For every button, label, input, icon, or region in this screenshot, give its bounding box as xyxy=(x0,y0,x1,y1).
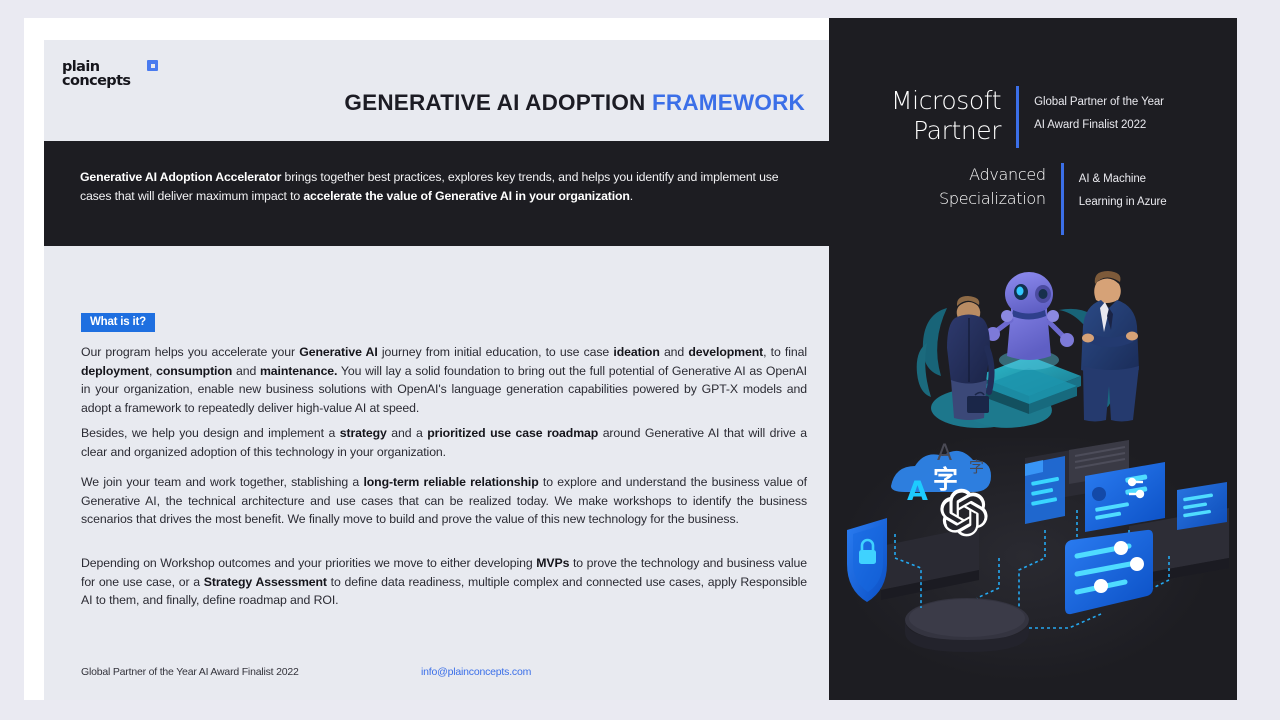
podium-icon xyxy=(905,598,1029,652)
p1-bold-maintenance: maintenance. xyxy=(260,364,337,378)
settings-sliders-icon xyxy=(1065,530,1153,614)
logo-square-icon xyxy=(147,60,158,71)
openai-ecosystem-illustration: A 字 A 字 xyxy=(829,438,1237,700)
footer-email-link[interactable]: info@plainconcepts.com xyxy=(421,666,531,678)
microsoft-partner-detail-line2: AI Award Finalist 2022 xyxy=(1034,114,1164,137)
p1-bold-development: development xyxy=(688,345,763,359)
paragraph-2: Besides, we help you design and implemen… xyxy=(81,424,807,461)
robot-and-businessmen-illustration xyxy=(829,248,1237,438)
svg-text:字: 字 xyxy=(969,458,984,476)
microsoft-partner-badge: Microsoft Partner Global Partner of the … xyxy=(891,86,1164,148)
p1-text-g: and xyxy=(232,364,260,378)
p1-bold-consumption: consumption xyxy=(156,364,232,378)
advanced-specialization-line1: Advanced xyxy=(939,163,1046,187)
advanced-specialization-line2: Specialization xyxy=(939,187,1046,211)
svg-text:字: 字 xyxy=(933,465,958,494)
svg-text:A: A xyxy=(937,441,952,466)
svg-text:A: A xyxy=(907,476,928,507)
microsoft-partner-detail-line1: Global Partner of the Year xyxy=(1034,91,1164,114)
banner-end: . xyxy=(630,189,633,203)
document-card-icon xyxy=(1025,456,1065,524)
microsoft-partner-title: Microsoft Partner xyxy=(891,86,1016,148)
p3-text-a: We join your team and work together, sta… xyxy=(81,475,363,489)
p2-text-c: and a xyxy=(387,426,427,440)
translate-cloud-icon: A 字 A 字 xyxy=(891,441,991,507)
page-title-main: GENERATIVE AI ADOPTION xyxy=(344,90,652,115)
microsoft-partner-detail: Global Partner of the Year AI Award Fina… xyxy=(1019,86,1164,137)
slide-canvas: plain concepts GENERATIVE AI ADOPTION FR… xyxy=(24,18,1237,700)
p1-bold-ideation: ideation xyxy=(613,345,659,359)
advanced-specialization-detail-line1: AI & Machine xyxy=(1079,168,1167,191)
advanced-specialization-badge: Advanced Specialization AI & Machine Lea… xyxy=(939,163,1167,235)
small-screen-icon xyxy=(1177,482,1227,530)
banner-lead: Generative AI Adoption Accelerator xyxy=(80,170,281,184)
p1-text-e: , to final xyxy=(763,345,807,359)
p4-bold-mvps: MVPs xyxy=(536,556,569,570)
paragraph-4: Depending on Workshop outcomes and your … xyxy=(81,554,807,610)
intro-banner: Generative AI Adoption Accelerator bring… xyxy=(44,141,829,246)
p3-bold-relationship: long-term reliable relationship xyxy=(363,475,538,489)
section-badge: What is it? xyxy=(81,313,155,332)
p2-text-a: Besides, we help you design and implemen… xyxy=(81,426,340,440)
intro-banner-text: Generative AI Adoption Accelerator bring… xyxy=(80,168,807,206)
left-content-panel: plain concepts GENERATIVE AI ADOPTION FR… xyxy=(44,40,829,700)
person-left-icon xyxy=(947,296,992,420)
p1-text-d: and xyxy=(660,345,689,359)
openai-logo-icon xyxy=(940,489,987,537)
p1-bold-generative-ai: Generative AI xyxy=(299,345,377,359)
paragraph-3: We join your team and work together, sta… xyxy=(81,473,807,529)
plain-concepts-logo: plain concepts xyxy=(62,60,162,96)
body-area: What is it? Our program helps you accele… xyxy=(44,246,829,700)
robot-icon xyxy=(986,272,1074,370)
microsoft-partner-line1: Microsoft xyxy=(891,86,1001,116)
logo-text-line2: concepts xyxy=(62,74,162,88)
p4-bold-strategy-assessment: Strategy Assessment xyxy=(204,575,327,589)
p1-text-a: Our program helps you accelerate your xyxy=(81,345,299,359)
p2-bold-strategy: strategy xyxy=(340,426,387,440)
p1-bold-deployment: deployment xyxy=(81,364,149,378)
header-band: plain concepts GENERATIVE AI ADOPTION FR… xyxy=(44,40,829,141)
advanced-specialization-title: Advanced Specialization xyxy=(939,163,1061,235)
p2-bold-roadmap: prioritized use case roadmap xyxy=(427,426,598,440)
footer-award-text: Global Partner of the Year AI Award Fina… xyxy=(81,666,299,678)
p4-text-a: Depending on Workshop outcomes and your … xyxy=(81,556,536,570)
page-title-accent: FRAMEWORK xyxy=(652,90,805,115)
person-right-icon xyxy=(1081,271,1139,422)
advanced-specialization-detail: AI & Machine Learning in Azure xyxy=(1064,163,1167,214)
page-title: GENERATIVE AI ADOPTION FRAMEWORK xyxy=(344,90,805,116)
banner-tail: accelerate the value of Generative AI in… xyxy=(303,189,629,203)
paragraph-1: Our program helps you accelerate your Ge… xyxy=(81,343,807,417)
right-dark-panel: Microsoft Partner Global Partner of the … xyxy=(829,18,1237,700)
advanced-specialization-detail-line2: Learning in Azure xyxy=(1079,191,1167,214)
microsoft-partner-line2: Partner xyxy=(891,116,1001,146)
p1-text-c: journey from initial education, to use c… xyxy=(378,345,614,359)
